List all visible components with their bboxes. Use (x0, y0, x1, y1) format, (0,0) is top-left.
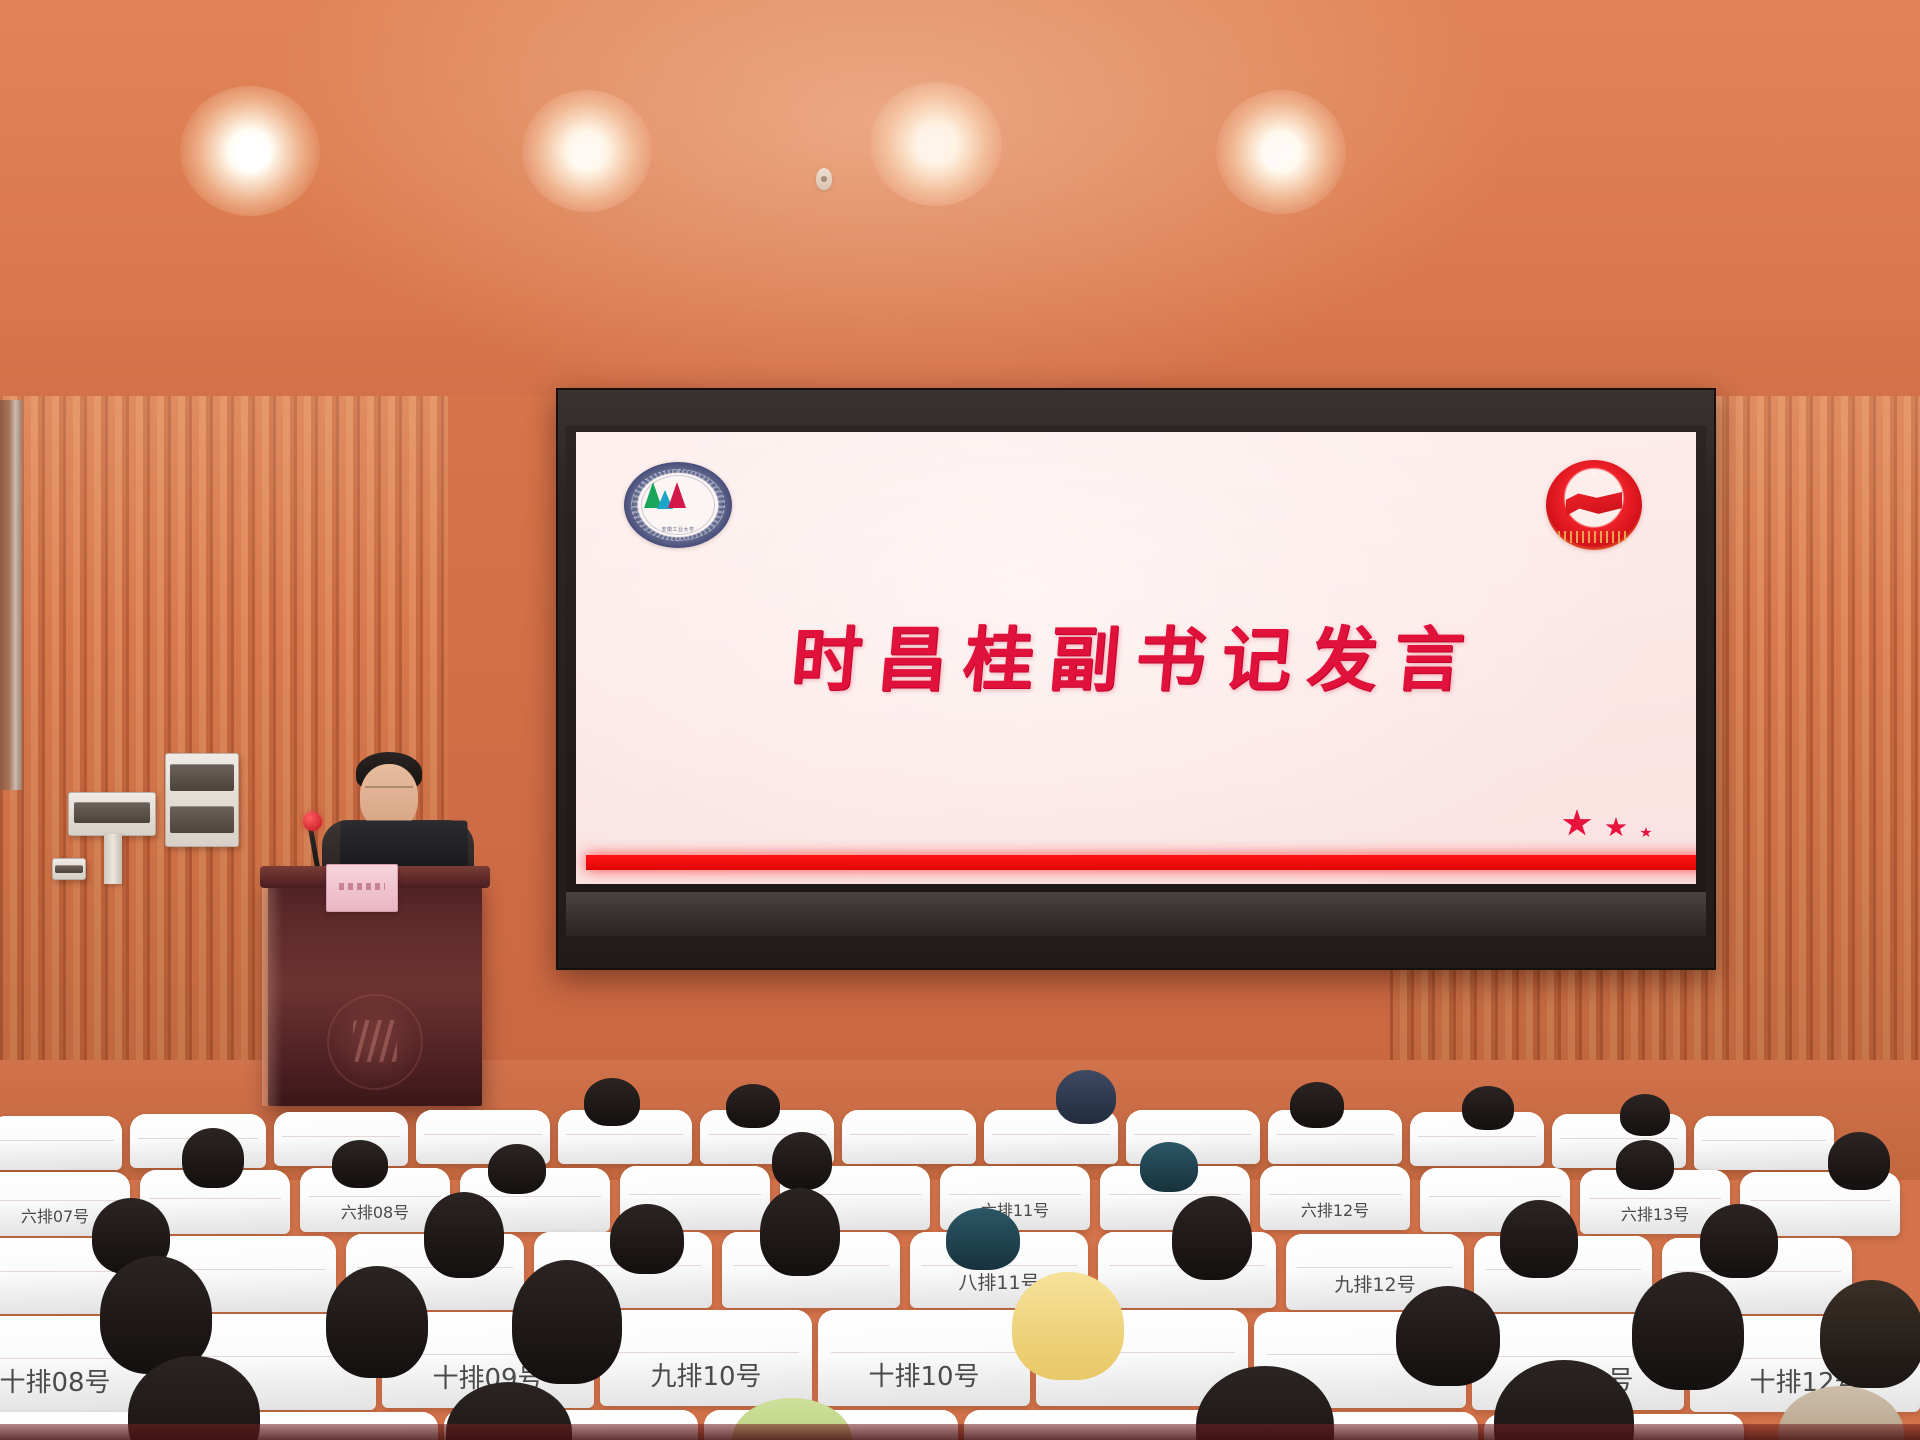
speaker-glasses-icon (365, 786, 413, 799)
spotlight-4-core (1262, 136, 1294, 170)
star-icon-large (1562, 809, 1592, 838)
audience-head (772, 1132, 832, 1190)
smoke-detector-icon (816, 168, 832, 190)
table-row (842, 1110, 976, 1164)
table-row (0, 1116, 122, 1170)
university-emblem-icon: 安徽工业大学 (624, 462, 732, 548)
audience-head (1820, 1280, 1920, 1388)
table-row: 六排12号 (1260, 1166, 1410, 1230)
party-emblem-text: ★ ★ ★ (1546, 470, 1642, 477)
audience-head (610, 1204, 684, 1274)
screen-lower-dark-band (566, 892, 1706, 936)
emblem-mountain-red (668, 482, 686, 508)
audience-head (1396, 1286, 1500, 1386)
slide-red-bar (586, 855, 1696, 870)
table-row: 九排10号 (600, 1310, 812, 1406)
table-row (1694, 1116, 1834, 1170)
star-icon-medium (1605, 817, 1627, 838)
audience-head (182, 1128, 244, 1188)
spotlight-1 (180, 86, 320, 216)
audience-head (326, 1266, 428, 1378)
party-emblem-icon: ★ ★ ★ (1546, 460, 1642, 550)
audience-head (1828, 1132, 1890, 1190)
spotlight-3 (870, 82, 1002, 206)
wall-control-panel-lower (68, 792, 156, 836)
ceiling (0, 0, 1920, 400)
microphone-head-icon (303, 812, 322, 831)
audience-head (1140, 1142, 1198, 1192)
audience-head (488, 1144, 546, 1194)
audience-head (726, 1084, 780, 1128)
projection-screen: 安徽工业大学 ★ ★ ★ 时昌桂副书记发言 (566, 426, 1706, 936)
speaker-name-card (326, 864, 398, 912)
slide-title: 时昌桂副书记发言 (576, 604, 1696, 705)
audience-head (1620, 1094, 1670, 1136)
star-icon-small (1640, 827, 1652, 838)
audience-head (946, 1208, 1020, 1270)
wall-panel-stem (104, 834, 122, 884)
floor-seam (0, 1424, 1920, 1440)
spotlight-2-core (570, 136, 602, 170)
spotlight-2 (522, 90, 652, 212)
seat-label: 十排10号 (818, 1356, 1030, 1393)
audience-head (1632, 1272, 1744, 1390)
emblem-university-name: 安徽工业大学 (624, 526, 732, 533)
audience-head (512, 1260, 622, 1384)
audience-head (1056, 1070, 1116, 1124)
table-row: 十排10号 (818, 1310, 1030, 1406)
audience-head (1462, 1086, 1514, 1130)
audience-head (1012, 1272, 1124, 1380)
seat-label: 六排12号 (1260, 1197, 1410, 1221)
wall-control-panel-upper (165, 753, 239, 847)
audience-head (1700, 1204, 1778, 1278)
presentation-slide: 安徽工业大学 ★ ★ ★ 时昌桂副书记发言 (576, 432, 1696, 884)
side-door-edge (0, 400, 22, 790)
audience-head (1616, 1140, 1674, 1190)
audience-head (1290, 1082, 1344, 1128)
spotlight-3-core (918, 128, 950, 162)
audience-head (424, 1192, 504, 1278)
red-flag-icon (1566, 492, 1622, 518)
spotlight-1-core (234, 134, 270, 172)
decorative-stars (1562, 809, 1652, 838)
projection-screen-frame: 安徽工业大学 ★ ★ ★ 时昌桂副书记发言 (556, 388, 1716, 970)
wall-socket-panel (52, 858, 86, 880)
spotlight-4 (1216, 90, 1346, 214)
audience-head (584, 1078, 640, 1126)
audience-head (332, 1140, 388, 1188)
auditorium-photo: 安徽工业大学 ★ ★ ★ 时昌桂副书记发言 (0, 0, 1920, 1440)
audience-head (1500, 1200, 1578, 1278)
seat-label: 九排10号 (600, 1356, 812, 1393)
wheat-ring-icon (1558, 531, 1630, 543)
audience-head (760, 1188, 840, 1276)
audience-seating: 六排07号 六排08号 六排11号 六排12号 六排13号 (0, 1060, 1920, 1440)
audience-head (1172, 1196, 1252, 1280)
